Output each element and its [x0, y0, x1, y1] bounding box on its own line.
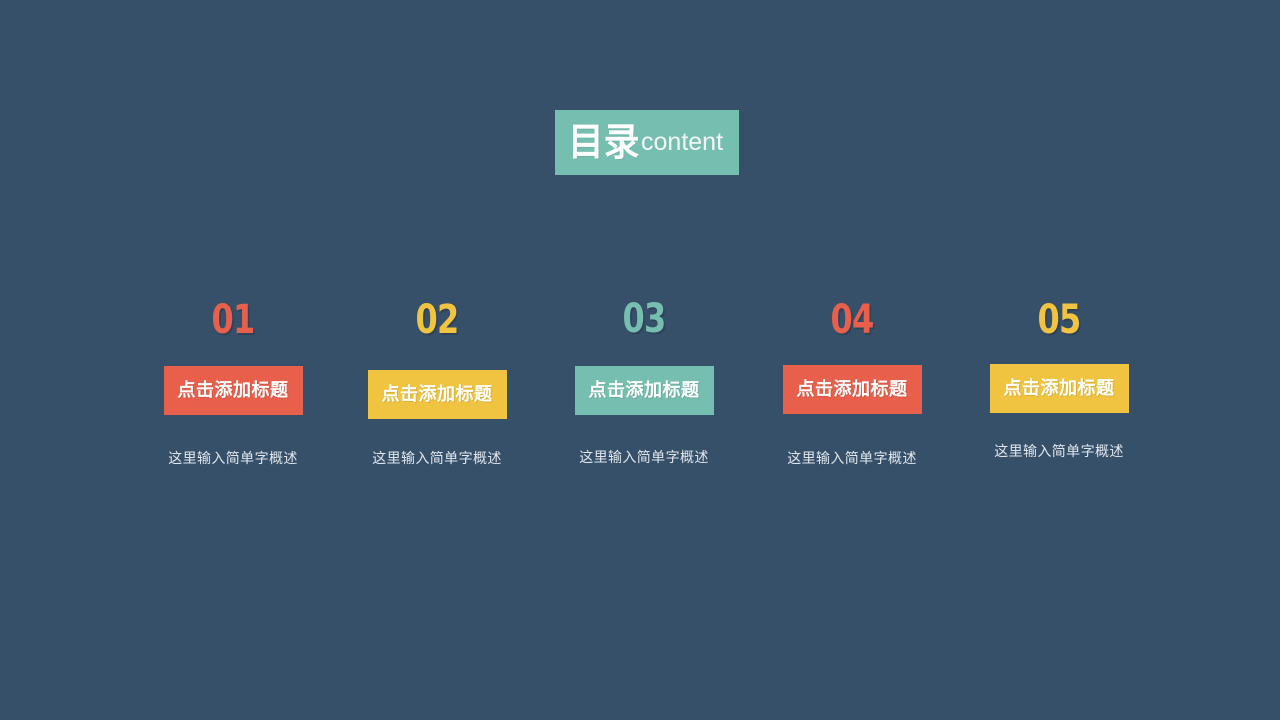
page-title-en: content [641, 130, 723, 155]
agenda-caption-04: 这里输入简单字概述 [757, 451, 947, 465]
agenda-button-wrap-02: 点击添加标题 [342, 352, 532, 432]
page-title-cn: 目录 [568, 124, 639, 162]
agenda-number-03: 03 [568, 299, 720, 339]
agenda-number-01: 01 [157, 300, 309, 340]
agenda-caption-02: 这里输入简单字概述 [342, 451, 532, 465]
agenda-number-wrap-01: 01 [138, 300, 328, 352]
slide-canvas: 目录 content 01 点击添加标题 这里输入简单字概述 02 点击添加标题… [0, 0, 1280, 720]
agenda-caption-03: 这里输入简单字概述 [549, 450, 739, 464]
agenda-number-wrap-04: 04 [757, 300, 947, 352]
agenda-button-wrap-04: 点击添加标题 [757, 352, 947, 427]
add-title-button-03[interactable]: 点击添加标题 [575, 366, 714, 415]
agenda-number-05: 05 [983, 300, 1135, 340]
agenda-item-03[interactable]: 03 点击添加标题 这里输入简单字概述 [549, 299, 739, 464]
agenda-button-wrap-03: 点击添加标题 [549, 351, 739, 428]
agenda-item-02[interactable]: 02 点击添加标题 这里输入简单字概述 [342, 300, 532, 465]
agenda-button-wrap-05: 点击添加标题 [964, 352, 1154, 426]
agenda-caption-01: 这里输入简单字概述 [138, 451, 328, 465]
agenda-item-01[interactable]: 01 点击添加标题 这里输入简单字概述 [138, 300, 328, 465]
agenda-item-05[interactable]: 05 点击添加标题 这里输入简单字概述 [964, 300, 1154, 458]
agenda-number-02: 02 [361, 300, 513, 340]
title-banner: 目录 content [555, 110, 739, 175]
agenda-number-wrap-05: 05 [964, 300, 1154, 352]
agenda-caption-05: 这里输入简单字概述 [964, 444, 1154, 458]
add-title-button-04[interactable]: 点击添加标题 [783, 365, 922, 414]
add-title-button-01[interactable]: 点击添加标题 [164, 366, 303, 415]
agenda-item-04[interactable]: 04 点击添加标题 这里输入简单字概述 [757, 300, 947, 465]
add-title-button-05[interactable]: 点击添加标题 [990, 364, 1129, 413]
agenda-number-04: 04 [776, 300, 928, 340]
agenda-button-wrap-01: 点击添加标题 [138, 352, 328, 428]
agenda-number-wrap-03: 03 [549, 299, 739, 351]
add-title-button-02[interactable]: 点击添加标题 [368, 370, 507, 419]
agenda-number-wrap-02: 02 [342, 300, 532, 352]
